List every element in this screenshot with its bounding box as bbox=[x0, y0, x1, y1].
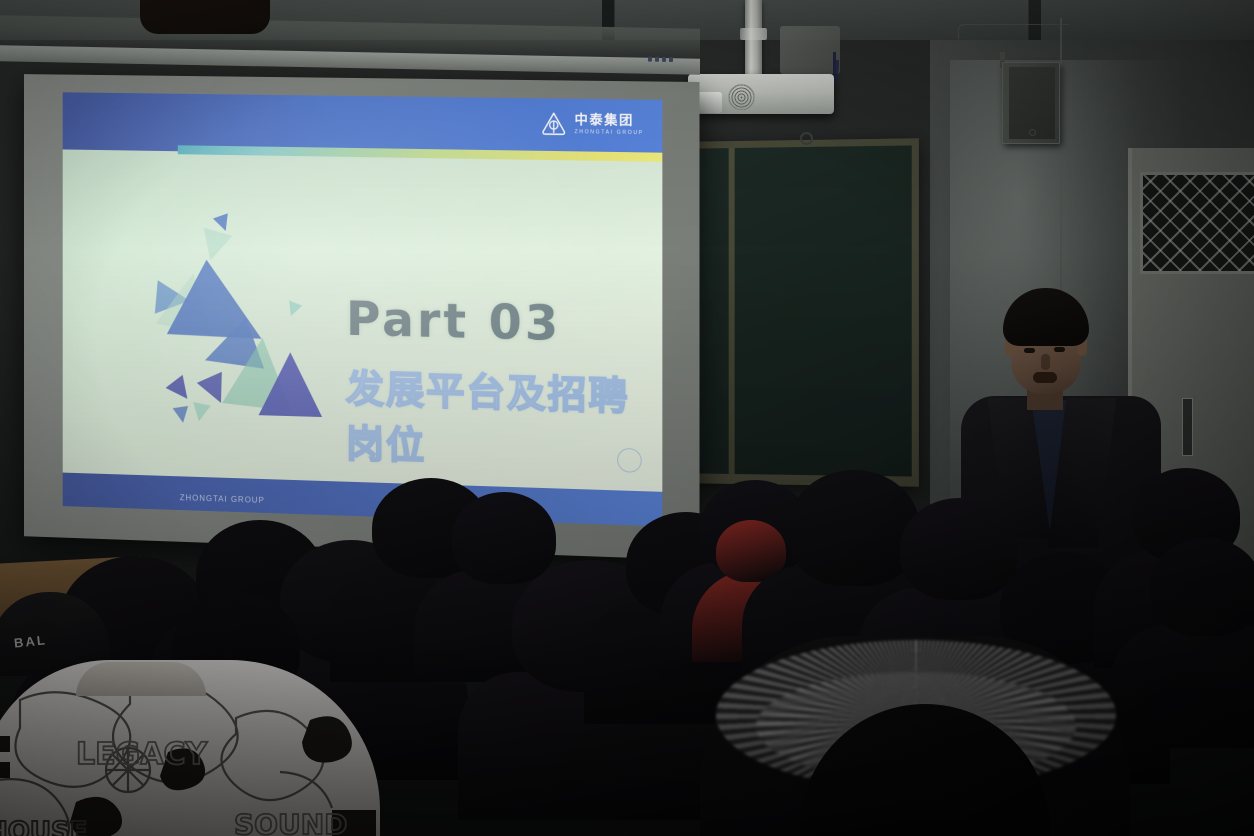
roller-indicator bbox=[662, 56, 666, 61]
presentation-slide[interactable]: 中泰集团 ZHONGTAI GROUP Part 03 发展平台及招聘岗位 ZH… bbox=[63, 92, 663, 526]
presenter-nose bbox=[1041, 354, 1050, 370]
wall-chalkboard bbox=[691, 138, 918, 486]
logo-chinese-name: 中泰集团 bbox=[575, 113, 644, 127]
decor-triangle bbox=[173, 406, 191, 424]
slide-title: Part 03 bbox=[346, 292, 561, 352]
logo-text: 中泰集团 ZHONGTAI GROUP bbox=[575, 113, 644, 135]
roller-indicator bbox=[655, 56, 659, 61]
triangle-cluster-decoration bbox=[121, 204, 338, 468]
door-transom-window bbox=[1140, 172, 1254, 274]
graffiti-print-jacket: LEGACY HOUSE SOUND bbox=[0, 660, 380, 836]
projector-vent-icon bbox=[728, 84, 755, 111]
wall-speaker bbox=[1002, 62, 1060, 144]
svg-text:HOUSE: HOUSE bbox=[0, 817, 87, 836]
chalkboard-divider bbox=[729, 148, 735, 474]
presenter-eye-left bbox=[1024, 348, 1035, 353]
logo-english-name: ZHONGTAI GROUP bbox=[575, 130, 644, 136]
lecture-hall-scene: 中泰集团 ZHONGTAI GROUP Part 03 发展平台及招聘岗位 ZH… bbox=[0, 0, 1254, 836]
audience-shoulders bbox=[1110, 624, 1254, 748]
projector-pole-collar bbox=[740, 28, 767, 40]
slide-circle-decoration bbox=[617, 448, 642, 473]
decor-triangle bbox=[190, 402, 211, 423]
speaker-driver-icon bbox=[1029, 129, 1036, 136]
triangle-a-mark-icon bbox=[541, 110, 567, 137]
roller-indicator-lights bbox=[648, 55, 692, 64]
decor-triangle bbox=[284, 300, 302, 318]
presenter-hair bbox=[1003, 288, 1089, 346]
chalkboard-hook bbox=[800, 132, 813, 145]
presenter-eye-right bbox=[1054, 347, 1065, 352]
projection-screen[interactable]: 中泰集团 ZHONGTAI GROUP Part 03 发展平台及招聘岗位 ZH… bbox=[24, 74, 700, 560]
door-narrow-window bbox=[1182, 398, 1193, 456]
presenter-mouth-open bbox=[1033, 372, 1057, 383]
ceiling-wire bbox=[958, 24, 1069, 39]
svg-text:LEGACY: LEGACY bbox=[76, 737, 208, 772]
roller-indicator bbox=[648, 56, 652, 61]
jacket-collar bbox=[76, 662, 206, 696]
company-logo: 中泰集团 ZHONGTAI GROUP bbox=[541, 110, 644, 138]
decor-triangle bbox=[196, 228, 232, 265]
slide-subtitle: 发展平台及招聘岗位 bbox=[346, 358, 662, 478]
lattice-grill-icon bbox=[1140, 172, 1254, 274]
cap-text: BAL bbox=[13, 632, 47, 650]
slide-footer-band bbox=[63, 473, 663, 527]
audience-head bbox=[1150, 538, 1254, 636]
audience-head bbox=[900, 498, 1018, 600]
svg-text:SOUND: SOUND bbox=[234, 808, 347, 836]
roller-indicator bbox=[669, 56, 673, 61]
audience-head bbox=[788, 470, 920, 586]
decor-triangle bbox=[166, 375, 196, 406]
decor-triangle bbox=[259, 352, 323, 418]
audience-head bbox=[452, 492, 556, 584]
foreground-person-head bbox=[140, 0, 270, 34]
